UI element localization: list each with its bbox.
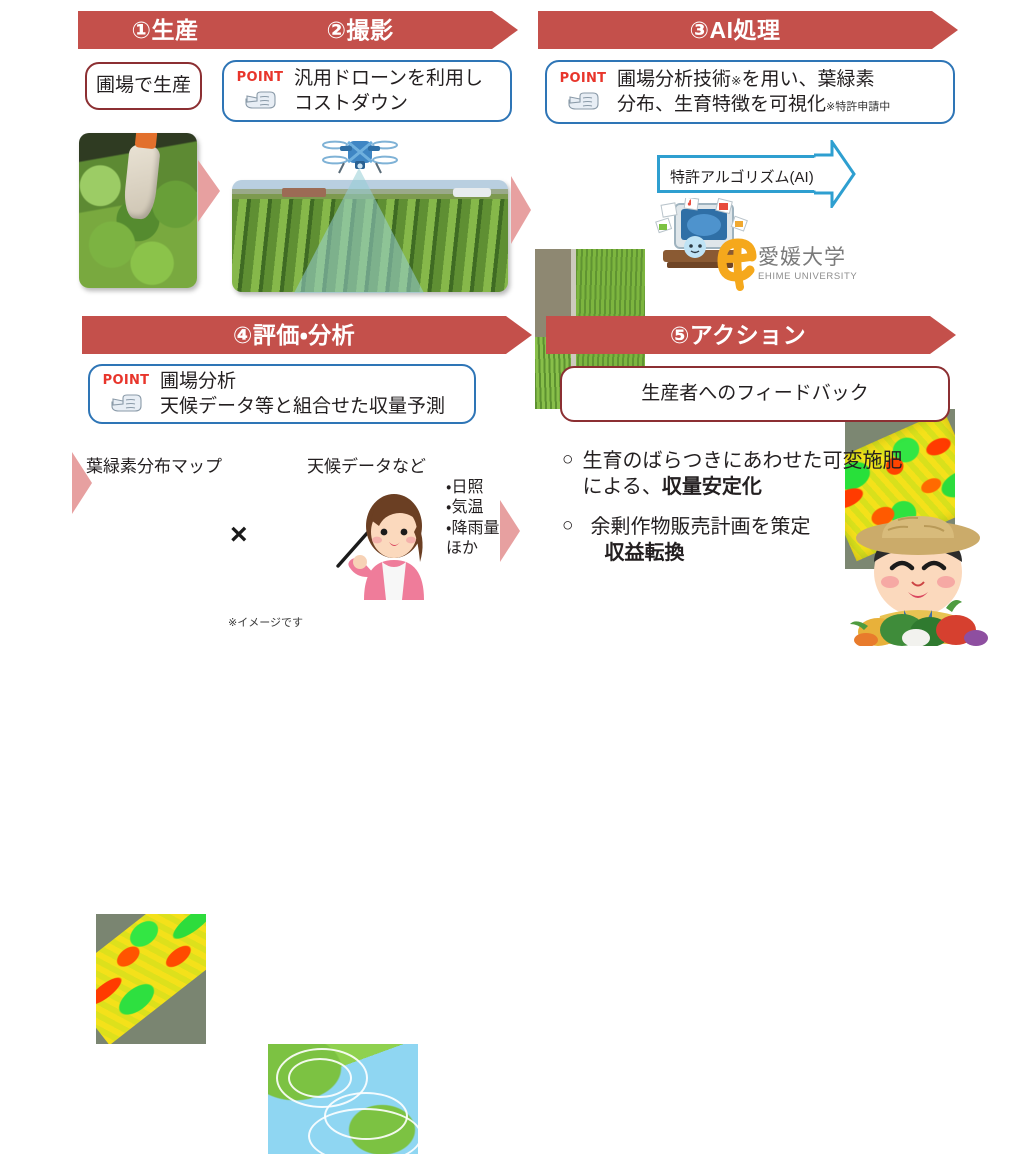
bullet-text-1: 余剰作物販売計画を策定 収益転換: [582, 514, 810, 566]
box-step-3-line1: 圃場分析技術※を用い、葉緑素: [617, 67, 890, 92]
arrow-patent-algorithm-label: 特許アルゴリズム(AI): [670, 166, 814, 187]
point-stamp-step-3: POINT: [555, 72, 611, 112]
footnote-image-disclaimer: ※イメージです: [228, 614, 303, 630]
banner-step-5: ⑤アクション: [546, 316, 956, 354]
box-step-5-text: 生産者へのフィードバック: [641, 381, 869, 406]
field-greenhouse: [453, 188, 492, 197]
label-chlorophyll-map: 葉緑素分布マップ: [86, 452, 222, 477]
pointing-hand-icon: [106, 388, 146, 414]
box-step-2: POINT 汎用ドローンを利用し コストダウン: [222, 60, 512, 122]
ehime-university-e-mark: [712, 235, 764, 297]
isobar-line-4: [308, 1108, 418, 1154]
weather-item-1: ・気温: [446, 498, 499, 518]
ehime-name-ja: 愛媛大学: [758, 247, 857, 268]
bullet-mark-0: ○: [562, 448, 573, 472]
chlorophyll-map-band: [96, 914, 206, 1044]
bullet-1-line2-bold: 収益転換: [604, 542, 684, 564]
box-step-3-line2-a: 分布、生育特徴を可視化: [617, 94, 826, 115]
weather-item-2: ・降雨量: [446, 519, 499, 539]
weather-presenter-illustration: [330, 480, 440, 612]
multiply-operator: ×: [230, 518, 248, 552]
bullet-1-line1: 余剰作物販売計画を策定: [590, 516, 810, 538]
box-step-4: POINT 圃場分析 天候データ等と組合せた収量予測: [88, 364, 476, 424]
label-weather-data: 天候データなど: [307, 452, 426, 477]
weather-items-list: ・日照 ・気温 ・降雨量 ほか: [446, 478, 499, 560]
box-step-1-text: 圃場で生産: [96, 73, 191, 98]
point-label-step-4: POINT: [103, 374, 150, 387]
action-bullet-item: ○ 生育のばらつきにあわせた可変施肥 による、収量安定化: [562, 448, 952, 500]
box-step-2-line1: 汎用ドローンを利用し: [294, 66, 483, 91]
banner-label-step-4: ④評価・分析: [233, 324, 355, 347]
drone-icon: [322, 133, 398, 177]
connector-arrow-2-3: [511, 176, 531, 244]
banner-step-3: ③AI処理: [538, 11, 958, 49]
bullet-0-line2-bold: 収量安定化: [662, 476, 762, 498]
bullet-0-line2-plain: による、: [582, 476, 661, 498]
box-step-2-text: 汎用ドローンを利用し コストダウン: [294, 66, 483, 116]
bullet-0-line1: 生育のばらつきにあわせた可変施肥: [582, 450, 902, 472]
banner-label-step-3: ③AI処理: [690, 19, 781, 42]
connector-arrow-4-5: [500, 500, 520, 562]
weather-item-0: ・日照: [446, 478, 499, 498]
pointing-hand-icon: [240, 85, 280, 111]
bullet-mark-1: ○: [562, 514, 573, 538]
farmer-illustration: [828, 498, 1008, 646]
box-step-3-line1-b: を用い、葉緑素: [742, 69, 875, 90]
weather-item-3: ほか: [446, 539, 499, 559]
arrow-patent-algorithm: 特許アルゴリズム(AI): [657, 155, 817, 193]
pointing-hand-icon: [563, 86, 603, 112]
connector-arrow-1-2: [198, 160, 220, 222]
box-step-1: 圃場で生産: [85, 62, 202, 110]
banner-step-2: ②撮影: [228, 11, 518, 49]
box-step-5: 生産者へのフィードバック: [560, 366, 950, 422]
glove-hand-detail: [122, 144, 160, 221]
banner-label-step-5: ⑤アクション: [670, 324, 806, 347]
infographic-canvas: ①生産 ②撮影 ③AI処理 圃場で生産 POINT 汎用ドローンを利用し コスト…: [0, 0, 1024, 645]
box-step-2-line2: コストダウン: [294, 91, 483, 116]
box-step-3-text: 圃場分析技術※を用い、葉緑素 分布、生育特徴を可視化※特許申請中: [617, 67, 890, 117]
field-shed: [282, 188, 326, 197]
box-step-3-line1-a: 圃場分析技術: [617, 69, 731, 90]
box-step-3-line2: 分布、生育特徴を可視化※特許申請中: [617, 92, 890, 117]
point-label-step-3: POINT: [560, 72, 607, 85]
box-step-4-text: 圃場分析 天候データ等と組合せた収量予測: [160, 369, 445, 419]
arrow-patent-algorithm-head: [814, 140, 856, 208]
ehime-name-en: EHIME UNIVERSITY: [758, 271, 857, 282]
box-step-4-line2: 天候データ等と組合せた収量予測: [160, 394, 445, 419]
point-stamp-step-2: POINT: [232, 71, 288, 111]
photo-weather-map: [268, 1044, 418, 1154]
photo-chlorophyll-map-small: [96, 914, 206, 1044]
point-label-step-2: POINT: [237, 71, 284, 84]
banner-label-step-2: ②撮影: [327, 19, 394, 42]
box-step-3-line1-mark: ※: [731, 74, 741, 88]
box-step-3-patent-note: ※特許申請中: [826, 101, 890, 113]
box-step-4-line1: 圃場分析: [160, 369, 445, 394]
photo-lettuce-harvest: [79, 133, 197, 288]
banner-label-step-1: ①生産: [132, 19, 199, 42]
box-step-3: POINT 圃場分析技術※を用い、葉緑素 分布、生育特徴を可視化※特許申請中: [545, 60, 955, 124]
point-stamp-step-4: POINT: [98, 374, 154, 414]
ehime-university-logo-text: 愛媛大学 EHIME UNIVERSITY: [758, 247, 857, 282]
banner-step-4: ④評価・分析: [82, 316, 532, 354]
bullet-text-0: 生育のばらつきにあわせた可変施肥 による、収量安定化: [582, 448, 902, 500]
